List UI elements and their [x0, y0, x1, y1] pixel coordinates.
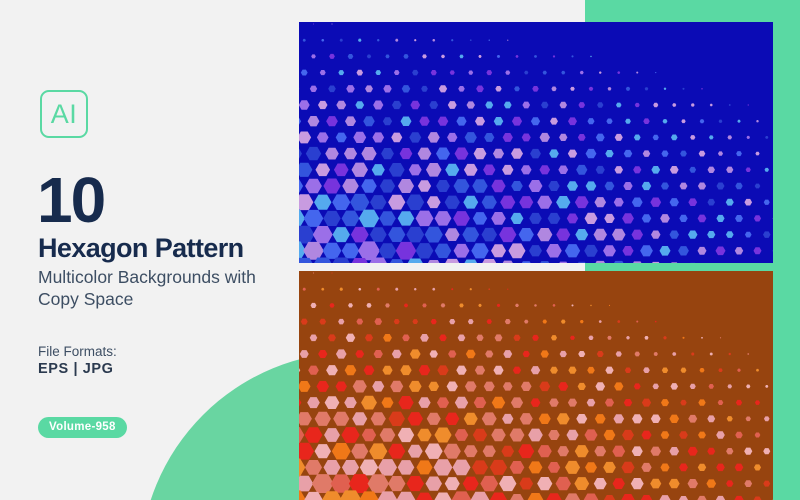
blue-hexagon-grid — [299, 22, 773, 263]
page-title: Hexagon Pattern — [38, 235, 244, 262]
blue-hexagon-preview — [299, 22, 773, 263]
poster-canvas: AI 10 Hexagon Pattern Multicolor Backgro… — [0, 0, 800, 500]
orange-hexagon-preview — [299, 271, 773, 500]
left-info-column: AI 10 Hexagon Pattern Multicolor Backgro… — [0, 0, 299, 500]
item-count: 10 — [37, 168, 104, 232]
file-formats-label: File Formats: — [38, 344, 117, 359]
orange-hexagon-grid — [299, 271, 773, 500]
page-subtitle: Multicolor Backgrounds with Copy Space — [38, 266, 288, 311]
file-formats-value: EPS | JPG — [38, 361, 114, 377]
volume-badge: Volume-958 — [38, 417, 127, 438]
ai-badge-label: AI — [51, 101, 78, 128]
ai-format-badge: AI — [40, 90, 88, 138]
